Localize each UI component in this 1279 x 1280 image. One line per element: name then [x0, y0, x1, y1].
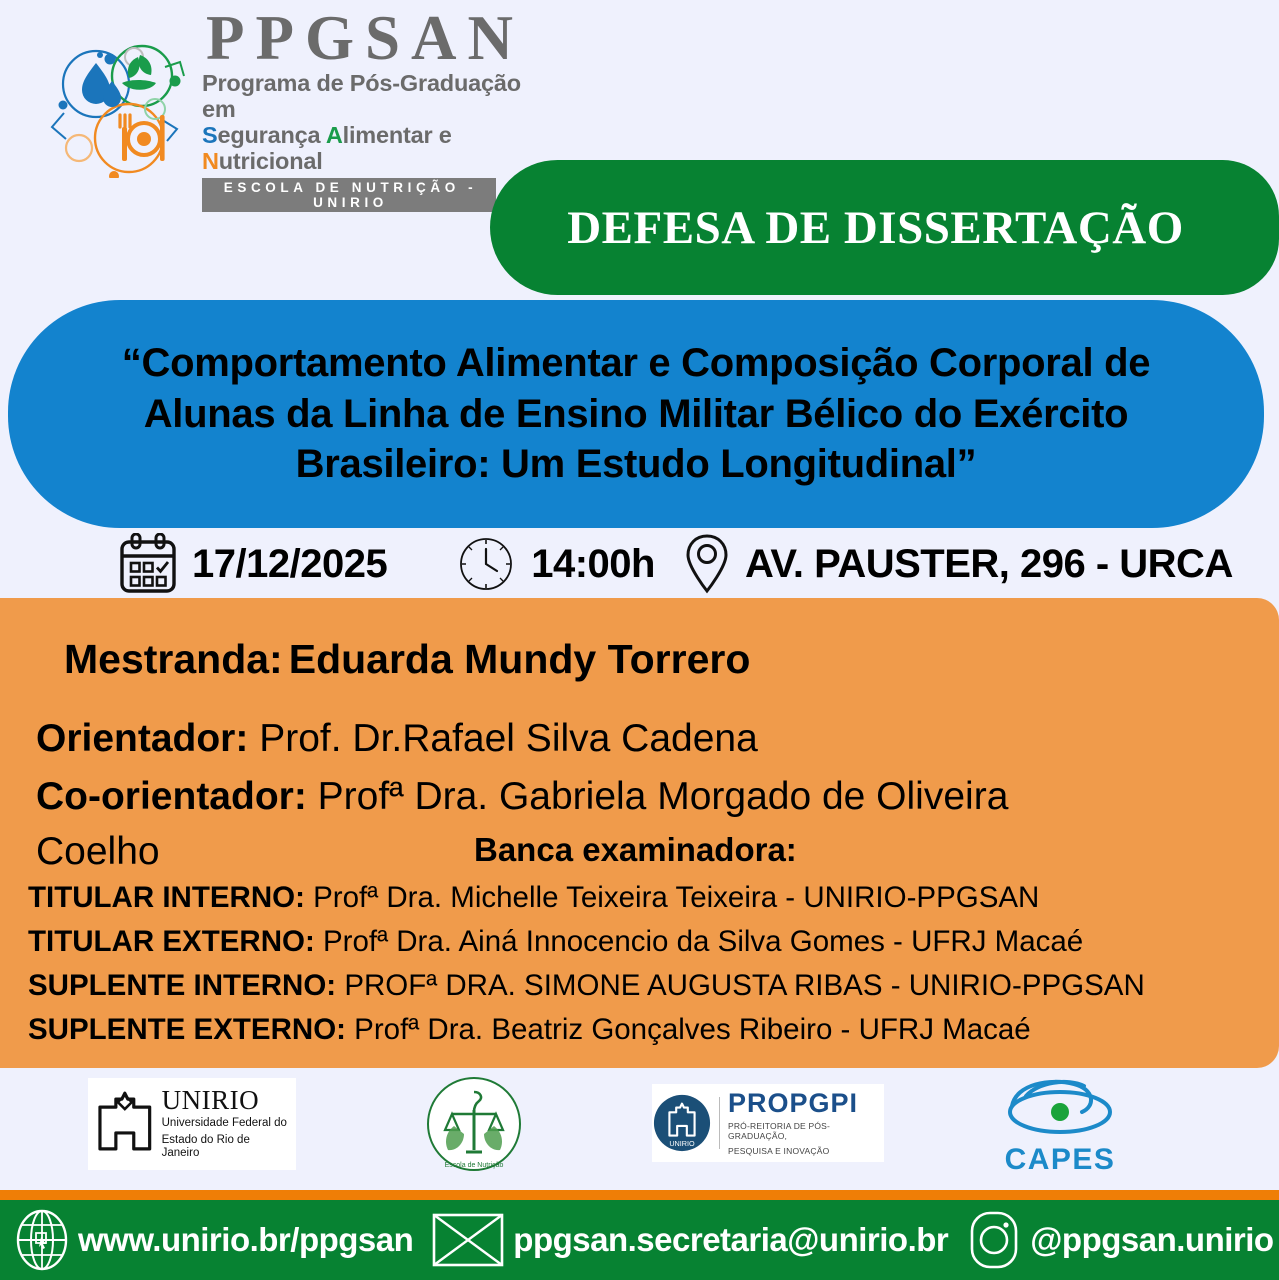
coadvisor-name: Profª Dra. Gabriela Morgado de Oliveira: [318, 775, 1009, 818]
advisor-line: Orientador: Prof. Dr.Rafael Silva Cadena: [36, 717, 758, 761]
propgpi-text-group: PROPGPI PRÓ-REITORIA DE PÓS-GRADUAÇÃO, P…: [728, 1090, 884, 1157]
advisor-label: Orientador:: [36, 717, 248, 760]
escola-nutricao-logo: Escola de Nutrição: [424, 1074, 524, 1174]
propgpi-logo: UNIRIO PROPGPI PRÓ-REITORIA DE PÓS-GRADU…: [652, 1084, 884, 1162]
event-date: 17/12/2025: [192, 542, 387, 587]
logo-acronym: PPGSAN: [206, 8, 534, 70]
capes-swirl-icon: [998, 1076, 1122, 1142]
unirio-subtitle-1: Universidade Federal do: [162, 1117, 290, 1131]
board-member-row: TITULAR INTERNO: Profª Dra. Michelle Tei…: [28, 876, 1268, 920]
board-member-role: SUPLENTE INTERNO:: [28, 969, 336, 1002]
unirio-crest-icon: [94, 1089, 156, 1159]
board-member-role: SUPLENTE EXTERNO:: [28, 1013, 346, 1046]
board-member-role: TITULAR EXTERNO:: [28, 925, 315, 958]
calendar-icon: [118, 533, 178, 595]
clock-icon: [457, 535, 515, 593]
board-member-name: Profª Dra. Michelle Teixeira Teixeira - …: [305, 881, 1039, 914]
website-text: www.unirio.br/ppgsan: [78, 1221, 413, 1259]
event-time-item: 14:00h: [457, 535, 655, 593]
unirio-name: UNIRIO: [162, 1087, 290, 1114]
board-member-name: PROFª DRA. SIMONE AUGUSTA RIBAS - UNIRIO…: [336, 969, 1145, 1002]
coadvisor-line: Co-orientador: Profª Dra. Gabriela Morga…: [36, 775, 1008, 819]
details-block: Mestranda:Eduarda Mundy Torrero Orientad…: [0, 598, 1279, 1068]
coadvisor-label: Co-orientador:: [36, 775, 307, 818]
contact-footer: www.unirio.br/ppgsan ppgsan.secretaria@u…: [0, 1200, 1279, 1280]
capes-logo: CAPES: [998, 1076, 1122, 1176]
advisor-name: Prof. Dr.Rafael Silva Cadena: [259, 717, 758, 760]
logo-limentar: limentar e: [343, 122, 452, 148]
logo-school-band: ESCOLA DE NUTRIÇÃO - UNIRIO: [202, 178, 496, 212]
escola-seal-label: Escola de Nutrição: [445, 1162, 504, 1169]
logo-utricional: utricional: [219, 148, 323, 174]
board-member-name: Profª Dra. Ainá Innocencio da Silva Gome…: [315, 925, 1083, 958]
logo-text-group: PPGSAN Programa de Pós-Graduação em Segu…: [202, 8, 534, 211]
email-item[interactable]: ppgsan.secretaria@unirio.br: [431, 1211, 948, 1269]
unirio-text-group: UNIRIO Universidade Federal do Estado do…: [162, 1087, 290, 1161]
event-location-item: AV. PAUSTER, 296 - URCA: [683, 533, 1233, 595]
board-member-role: TITULAR INTERNO:: [28, 881, 305, 914]
propgpi-subtitle-2: PESQUISA E INOVAÇÃO: [728, 1146, 884, 1157]
logo-s: S: [202, 122, 217, 148]
propgpi-subtitle-1: PRÓ-REITORIA DE PÓS-GRADUAÇÃO,: [728, 1121, 884, 1142]
logo-a: A: [326, 122, 343, 148]
student-name: Eduarda Mundy Torrero: [289, 636, 751, 682]
logo-programa-line: Programa de Pós-Graduação em: [202, 71, 534, 123]
board-heading: Banca examinadora:: [474, 831, 797, 869]
instagram-icon: [966, 1209, 1022, 1271]
student-line: Mestranda:Eduarda Mundy Torrero: [64, 636, 750, 683]
event-date-item: 17/12/2025: [118, 533, 387, 595]
logo-san-line: Segurança Alimentar e Nutricional: [202, 123, 534, 175]
ppgsan-logo: PPGSAN Programa de Pós-Graduação em Segu…: [34, 40, 534, 180]
event-info-row: 17/12/2025 14:00h AV. PAUSTER, 296 - URC…: [0, 530, 1279, 598]
sponsor-logo-strip: UNIRIO Universidade Federal do Estado do…: [0, 1070, 1279, 1180]
student-label: Mestranda:: [64, 636, 283, 682]
board-member-row: SUPLENTE INTERNO: PROFª DRA. SIMONE AUGU…: [28, 964, 1268, 1008]
unirio-logo: UNIRIO Universidade Federal do Estado do…: [88, 1078, 296, 1170]
poster-root: PPGSAN Programa de Pós-Graduação em Segu…: [0, 0, 1279, 1280]
event-location: AV. PAUSTER, 296 - URCA: [745, 542, 1233, 587]
website-item[interactable]: www.unirio.br/ppgsan: [14, 1209, 413, 1271]
escola-nutricao-seal-icon: Escola de Nutrição: [424, 1074, 524, 1174]
thesis-title: “Comportamento Alimentar e Composição Co…: [56, 338, 1216, 490]
location-pin-icon: [683, 533, 731, 595]
board-member-name: Profª Dra. Beatriz Gonçalves Ribeiro - U…: [346, 1013, 1031, 1046]
thesis-title-block: “Comportamento Alimentar e Composição Co…: [8, 300, 1264, 528]
instagram-item[interactable]: @ppgsan.unirio: [966, 1209, 1273, 1271]
instagram-text: @ppgsan.unirio: [1030, 1221, 1273, 1259]
capes-wordmark: CAPES: [998, 1143, 1122, 1177]
defense-type-label: DEFESA DE DISSERTAÇÃO: [567, 201, 1202, 255]
board-member-row: SUPLENTE EXTERNO: Profª Dra. Beatriz Gon…: [28, 1008, 1268, 1052]
propgpi-divider: [719, 1097, 720, 1149]
envelope-icon: [431, 1211, 505, 1269]
ppgsan-logo-icon: [34, 43, 194, 178]
board-member-row: TITULAR EXTERNO: Profª Dra. Ainá Innocen…: [28, 920, 1268, 964]
propgpi-title: PROPGPI: [728, 1090, 884, 1117]
unirio-subtitle-2: Estado do Rio de Janeiro: [162, 1134, 290, 1162]
propgpi-seal-label: UNIRIO: [669, 1139, 695, 1148]
logo-n: N: [202, 148, 219, 174]
propgpi-unirio-seal-icon: UNIRIO: [652, 1092, 712, 1154]
board-list: TITULAR INTERNO: Profª Dra. Michelle Tei…: [28, 876, 1268, 1052]
defense-type-banner: DEFESA DE DISSERTAÇÃO: [490, 160, 1279, 295]
globe-icon: [14, 1209, 70, 1271]
event-time: 14:00h: [531, 542, 655, 587]
orange-accent-strip: [0, 1190, 1279, 1200]
coadvisor-name-wrap: Coelho: [36, 830, 160, 874]
email-text: ppgsan.secretaria@unirio.br: [513, 1221, 948, 1259]
logo-eguranca: egurança: [217, 122, 325, 148]
